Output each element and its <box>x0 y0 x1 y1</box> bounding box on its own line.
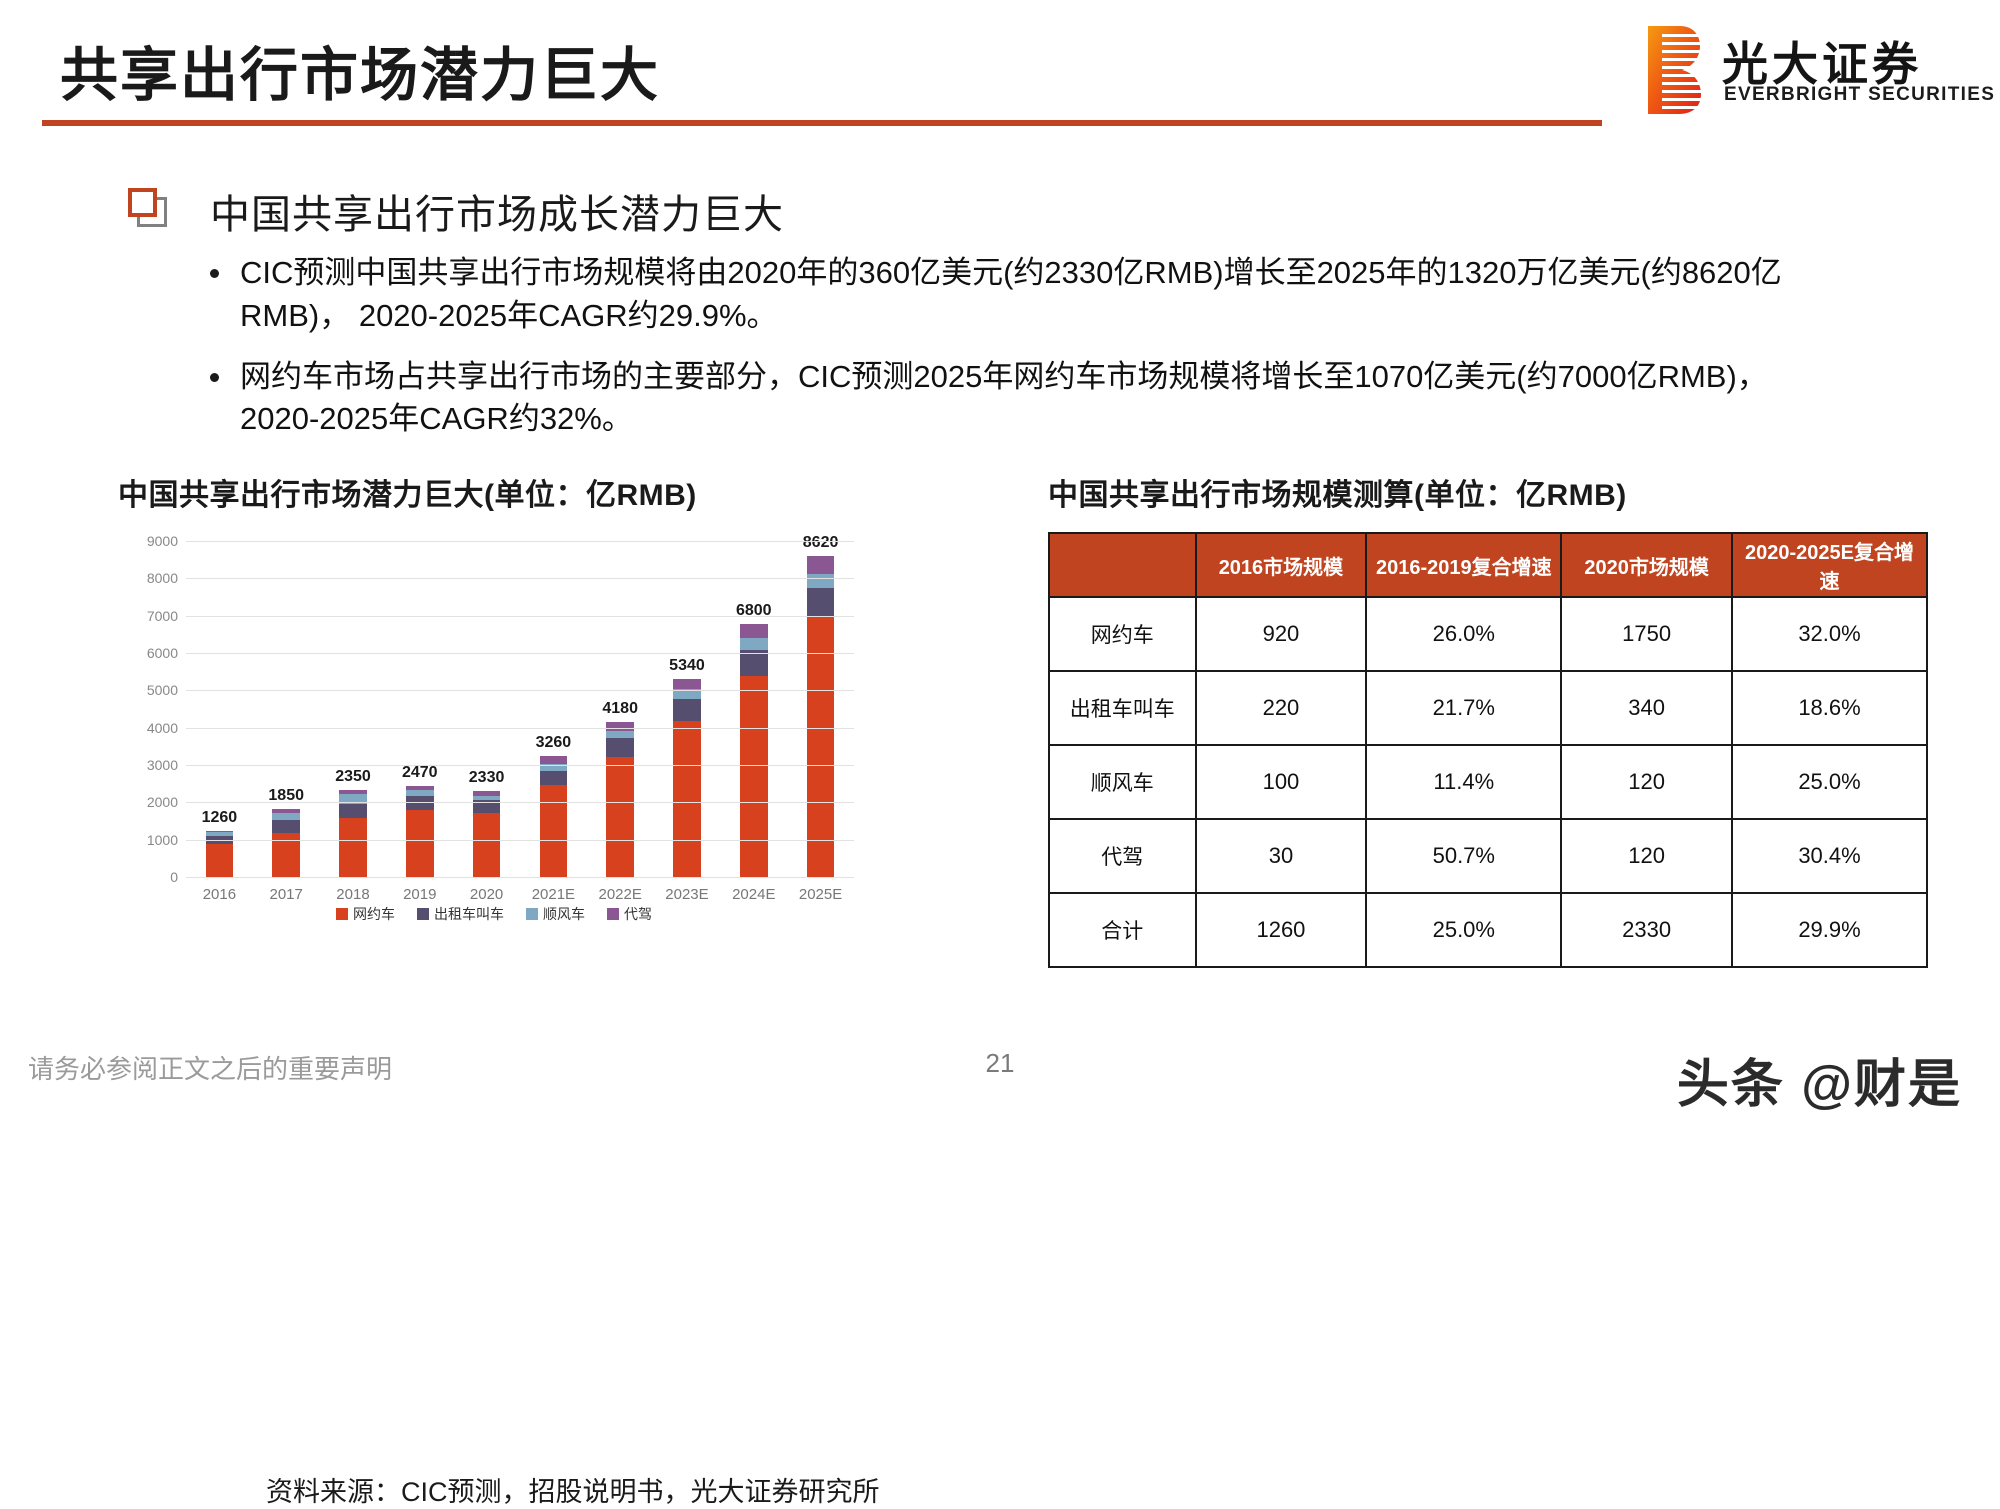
y-axis-tick-label: 3000 <box>147 757 178 773</box>
table-cell: 11.4% <box>1366 745 1561 819</box>
bar-segment-出租车叫车 <box>606 738 634 757</box>
table-column-header: 2016-2019复合增速 <box>1366 533 1561 597</box>
table-cell: 21.7% <box>1366 671 1561 745</box>
bar-value-label: 3260 <box>536 734 572 752</box>
page-title: 共享出行市场潜力巨大 <box>60 28 660 112</box>
x-axis-tick-label: 2021E <box>532 886 575 903</box>
chart-bar-column: 53402023E <box>657 542 717 878</box>
table-row-label: 出租车叫车 <box>1049 671 1196 745</box>
bar-stack <box>673 679 701 878</box>
footer-disclaimer: 请务必参阅正文之后的重要声明 <box>28 1049 392 1086</box>
chart-bar-column: 68002024E <box>724 542 784 878</box>
table-cell: 920 <box>1196 597 1367 671</box>
bar-value-label: 2350 <box>335 768 371 786</box>
table-cell: 220 <box>1196 671 1367 745</box>
page-number: 21 <box>986 1048 1015 1079</box>
table-cell: 25.0% <box>1366 893 1561 967</box>
table-cell: 2330 <box>1561 893 1732 967</box>
table-row-label: 顺风车 <box>1049 745 1196 819</box>
table-row: 网约车92026.0%175032.0% <box>1049 597 1927 671</box>
chart-gridline: 0 <box>186 877 854 878</box>
chart-bar-column: 24702019 <box>390 542 450 878</box>
bar-segment-网约车 <box>406 810 434 878</box>
table-row: 代驾3050.7%12030.4% <box>1049 819 1927 893</box>
x-axis-tick-label: 2022E <box>598 886 641 903</box>
legend-label: 代驾 <box>624 904 652 924</box>
chart-bar-column: 18502017 <box>256 542 316 878</box>
chart-bar-column: 41802022E <box>590 542 650 878</box>
bar-segment-出租车叫车 <box>339 804 367 818</box>
market-size-table: 2016市场规模2016-2019复合增速2020市场规模2020-2025E复… <box>1048 532 1928 968</box>
bullet-dot-icon <box>210 373 219 382</box>
bar-segment-网约车 <box>339 818 367 878</box>
legend-swatch <box>526 908 538 920</box>
table-column-header: 2016市场规模 <box>1196 533 1367 597</box>
bar-segment-出租车叫车 <box>540 771 568 786</box>
chart-gridline: 6000 <box>186 653 854 654</box>
bar-segment-顺风车 <box>606 731 634 738</box>
bar-stack <box>473 791 501 878</box>
chart-gridline: 5000 <box>186 690 854 691</box>
legend-label: 出租车叫车 <box>434 904 504 924</box>
legend-item-出租车叫车: 出租车叫车 <box>417 904 504 924</box>
x-axis-tick-label: 2016 <box>203 886 236 903</box>
bar-segment-出租车叫车 <box>272 820 300 833</box>
y-axis-tick-label: 2000 <box>147 794 178 810</box>
table-body: 网约车92026.0%175032.0%出租车叫车22021.7%34018.6… <box>1049 597 1927 967</box>
bar-value-label: 1260 <box>202 809 238 827</box>
bar-segment-网约车 <box>206 844 234 878</box>
bar-value-label: 2330 <box>469 769 505 787</box>
chart-panel: 中国共享出行市场潜力巨大(单位：亿RMB) 126020161850201723… <box>118 470 938 920</box>
bar-segment-网约车 <box>740 676 768 878</box>
stacked-bar-chart: 1260201618502017235020182470201923302020… <box>124 532 864 920</box>
bar-value-label: 5340 <box>669 657 705 675</box>
table-cell: 340 <box>1561 671 1732 745</box>
bar-stack <box>206 831 234 878</box>
chart-gridline: 7000 <box>186 616 854 617</box>
x-axis-tick-label: 2024E <box>732 886 775 903</box>
bullet-dot-icon <box>210 269 219 278</box>
table-column-header: 2020-2025E复合增速 <box>1732 533 1927 597</box>
section-heading: 中国共享出行市场成长潜力巨大 <box>210 182 784 240</box>
legend-swatch <box>607 908 619 920</box>
table-cell: 50.7% <box>1366 819 1561 893</box>
bullet-text: CIC预测中国共享出行市场规模将由2020年的360亿美元(约2330亿RMB)… <box>240 252 1786 338</box>
x-axis-tick-label: 2018 <box>336 886 369 903</box>
y-axis-tick-label: 9000 <box>147 533 178 549</box>
x-axis-tick-label: 2017 <box>270 886 303 903</box>
table-cell: 120 <box>1561 819 1732 893</box>
bar-segment-顺风车 <box>740 638 768 650</box>
table-cell: 32.0% <box>1732 597 1927 671</box>
bar-segment-顺风车 <box>807 574 835 588</box>
table-cell: 29.9% <box>1732 893 1927 967</box>
legend-item-网约车: 网约车 <box>336 904 395 924</box>
legend-swatch <box>417 908 429 920</box>
bullet-list: CIC预测中国共享出行市场规模将由2020年的360亿美元(约2330亿RMB)… <box>196 252 1786 459</box>
bar-value-label: 2470 <box>402 764 438 782</box>
legend-item-代驾: 代驾 <box>607 904 652 924</box>
bar-segment-网约车 <box>540 785 568 878</box>
chart-title: 中国共享出行市场潜力巨大(单位：亿RMB) <box>118 470 938 514</box>
bullet-item: 网约车市场占共享出行市场的主要部分，CIC预测2025年网约车市场规模将增长至1… <box>196 356 1786 442</box>
bar-segment-代驾 <box>540 756 568 763</box>
table-row: 顺风车10011.4%12025.0% <box>1049 745 1927 819</box>
table-row: 合计126025.0%233029.9% <box>1049 893 1927 967</box>
chart-legend: 网约车出租车叫车顺风车代驾 <box>124 904 864 924</box>
bar-segment-顺风车 <box>272 813 300 820</box>
table-cell: 120 <box>1561 745 1732 819</box>
everbright-logo: 光大证券 EVERBRIGHT SECURITIES <box>1646 22 1976 118</box>
table-cell: 100 <box>1196 745 1367 819</box>
y-axis-tick-label: 0 <box>170 869 178 885</box>
logo-text-english: EVERBRIGHT SECURITIES <box>1724 84 1995 106</box>
section-marker-icon <box>128 188 162 222</box>
table-cell: 25.0% <box>1732 745 1927 819</box>
chart-bar-column: 86202025E <box>791 542 851 878</box>
x-axis-tick-label: 2025E <box>799 886 842 903</box>
bar-segment-网约车 <box>606 757 634 878</box>
table-cell: 1260 <box>1196 893 1367 967</box>
chart-gridline: 9000 <box>186 541 854 542</box>
bar-segment-代驾 <box>807 556 835 574</box>
chart-bar-column: 12602016 <box>189 542 249 878</box>
y-axis-tick-label: 1000 <box>147 832 178 848</box>
table-panel: 中国共享出行市场规模测算(单位：亿RMB) 2016市场规模2016-2019复… <box>1048 470 1928 968</box>
bar-stack <box>272 809 300 878</box>
y-axis-tick-label: 4000 <box>147 720 178 736</box>
chart-bar-column: 23502018 <box>323 542 383 878</box>
chart-bar-column: 23302020 <box>457 542 517 878</box>
bar-value-label: 6800 <box>736 602 772 620</box>
chart-gridline: 2000 <box>186 802 854 803</box>
y-axis-tick-label: 5000 <box>147 682 178 698</box>
bar-segment-代驾 <box>740 624 768 638</box>
table-column-header <box>1049 533 1196 597</box>
x-axis-tick-label: 2020 <box>470 886 503 903</box>
bar-segment-代驾 <box>606 722 634 731</box>
bullet-item: CIC预测中国共享出行市场规模将由2020年的360亿美元(约2330亿RMB)… <box>196 252 1786 338</box>
legend-item-顺风车: 顺风车 <box>526 904 585 924</box>
bar-segment-网约车 <box>673 721 701 878</box>
everbright-logo-mark <box>1646 24 1702 116</box>
chart-plot-area: 1260201618502017235020182470201923302020… <box>186 542 854 878</box>
table-column-header: 2020市场规模 <box>1561 533 1732 597</box>
bullet-text: 网约车市场占共享出行市场的主要部分，CIC预测2025年网约车市场规模将增长至1… <box>240 356 1786 442</box>
chart-bar-column: 32602021E <box>523 542 583 878</box>
y-axis-tick-label: 7000 <box>147 608 178 624</box>
table-title: 中国共享出行市场规模测算(单位：亿RMB) <box>1048 470 1928 514</box>
bar-stack <box>406 786 434 878</box>
table-cell: 18.6% <box>1732 671 1927 745</box>
bar-stack <box>339 790 367 878</box>
bar-segment-出租车叫车 <box>673 699 701 721</box>
chart-gridline: 1000 <box>186 840 854 841</box>
bar-stack <box>807 556 835 878</box>
header-divider <box>42 120 1602 126</box>
table-cell: 30.4% <box>1732 819 1927 893</box>
legend-label: 网约车 <box>353 904 395 924</box>
table-row-label: 代驾 <box>1049 819 1196 893</box>
table-header-row: 2016市场规模2016-2019复合增速2020市场规模2020-2025E复… <box>1049 533 1927 597</box>
table-cell: 26.0% <box>1366 597 1561 671</box>
bar-stack <box>606 722 634 878</box>
bar-value-label: 4180 <box>602 700 638 718</box>
bar-stack <box>540 756 568 878</box>
bar-segment-网约车 <box>473 813 501 878</box>
slide: 共享出行市场潜力巨大 <box>0 0 2000 1125</box>
chart-gridline: 8000 <box>186 578 854 579</box>
table-row-label: 合计 <box>1049 893 1196 967</box>
chart-bars: 1260201618502017235020182470201923302020… <box>186 542 854 878</box>
chart-source: 资料来源：CIC预测，招股说明书，光大证券研究所 <box>266 1470 880 1509</box>
table-cell: 1750 <box>1561 597 1732 671</box>
bar-value-label: 8620 <box>803 534 839 552</box>
table-row: 出租车叫车22021.7%34018.6% <box>1049 671 1927 745</box>
table-row-label: 网约车 <box>1049 597 1196 671</box>
table-cell: 30 <box>1196 819 1367 893</box>
x-axis-tick-label: 2023E <box>665 886 708 903</box>
y-axis-tick-label: 8000 <box>147 570 178 586</box>
x-axis-tick-label: 2019 <box>403 886 436 903</box>
y-axis-tick-label: 6000 <box>147 645 178 661</box>
chart-gridline: 4000 <box>186 728 854 729</box>
legend-label: 顺风车 <box>543 904 585 924</box>
bar-segment-代驾 <box>673 679 701 690</box>
chart-gridline: 3000 <box>186 765 854 766</box>
legend-swatch <box>336 908 348 920</box>
slide-header: 共享出行市场潜力巨大 <box>0 0 2000 140</box>
watermark: 头条 @财是 <box>1677 1042 1962 1117</box>
bar-segment-出租车叫车 <box>807 588 835 618</box>
